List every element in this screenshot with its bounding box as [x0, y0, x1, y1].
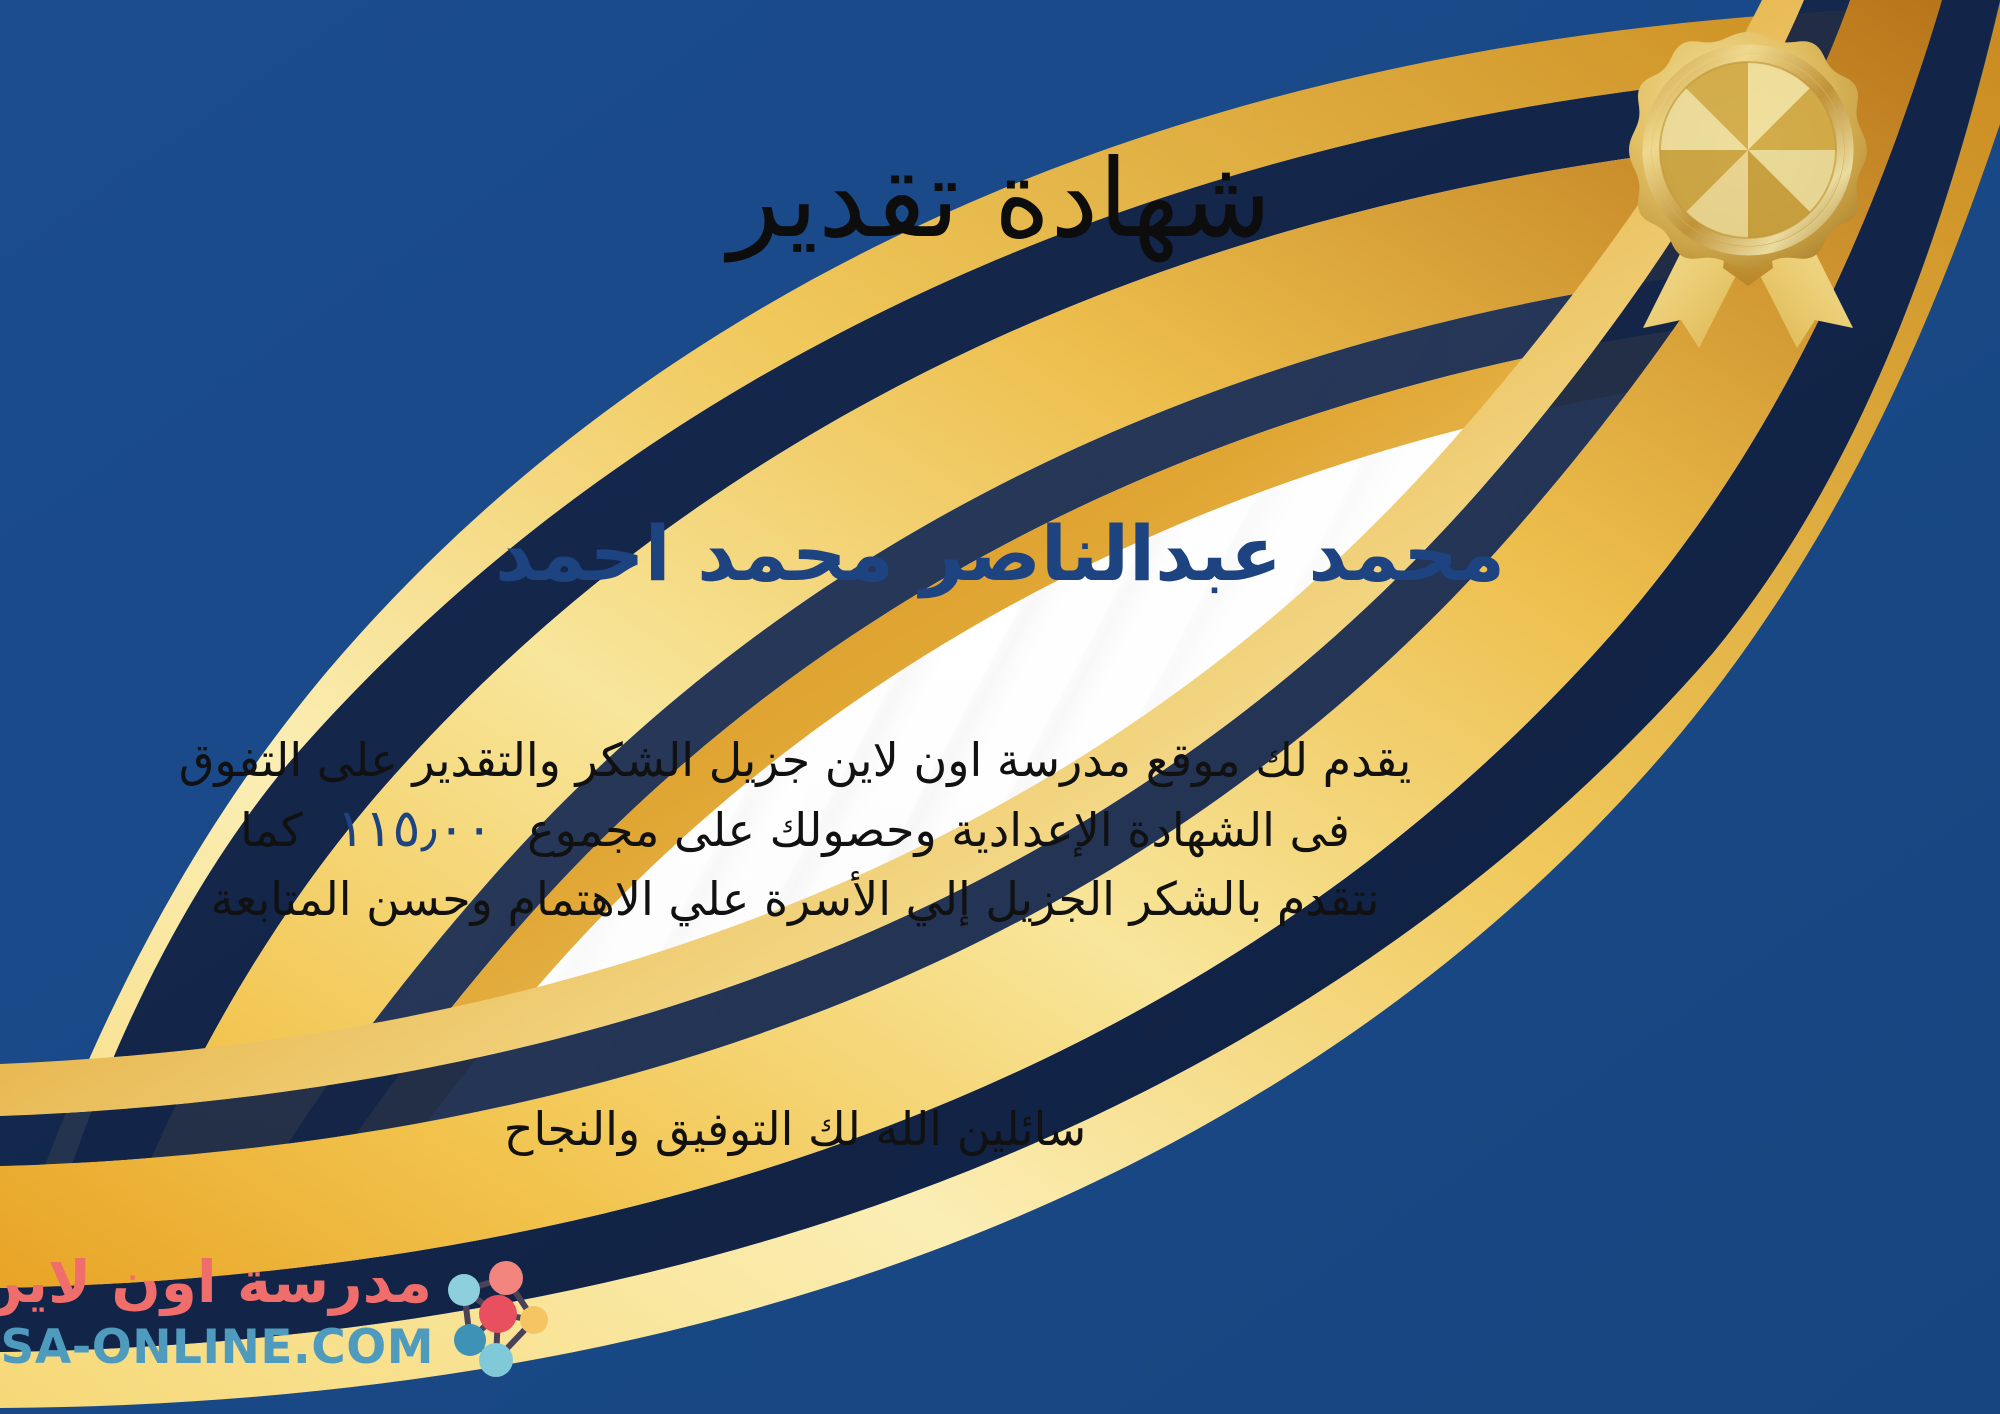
- certificate-canvas: شهادة تقدير محمد عبدالناصر محمد احمد يقد…: [0, 0, 2000, 1414]
- body-line-3: نتقدم بالشكر الجزيل إلي الأسرة علي الاهت…: [55, 867, 1535, 932]
- recipient-name: محمد عبدالناصر محمد احمد: [0, 508, 2000, 599]
- body-line-2-suffix: كما: [240, 803, 303, 857]
- body-line-2-prefix: فى الشهادة الإعدادية وحصولك على مجموع: [527, 803, 1350, 857]
- body-line-2: فى الشهادة الإعدادية وحصولك على مجموع١١٥…: [55, 793, 1535, 867]
- body-line-1: يقدم لك موقع مدرسة اون لاين جزيل الشكر و…: [55, 728, 1535, 793]
- logo-arabic-name: مدرسة اون لاين: [0, 1248, 432, 1316]
- logo-website-url: MADRSA-ONLINE.COM: [0, 1320, 434, 1375]
- page-title: شهادة تقدير: [0, 136, 2000, 263]
- closing-wish: سائلين الله لك التوفيق والنجاح: [55, 1097, 1535, 1161]
- score-value: ١١٥٫٠٠: [303, 799, 528, 859]
- network-nodes-icon: [434, 1256, 552, 1380]
- body-text: يقدم لك موقع مدرسة اون لاين جزيل الشكر و…: [55, 728, 1535, 932]
- certificate-content: شهادة تقدير محمد عبدالناصر محمد احمد يقد…: [0, 0, 2000, 1414]
- brand-logo[interactable]: مدرسة اون لاين MADRSA-ONLINE.COM: [22, 1248, 552, 1388]
